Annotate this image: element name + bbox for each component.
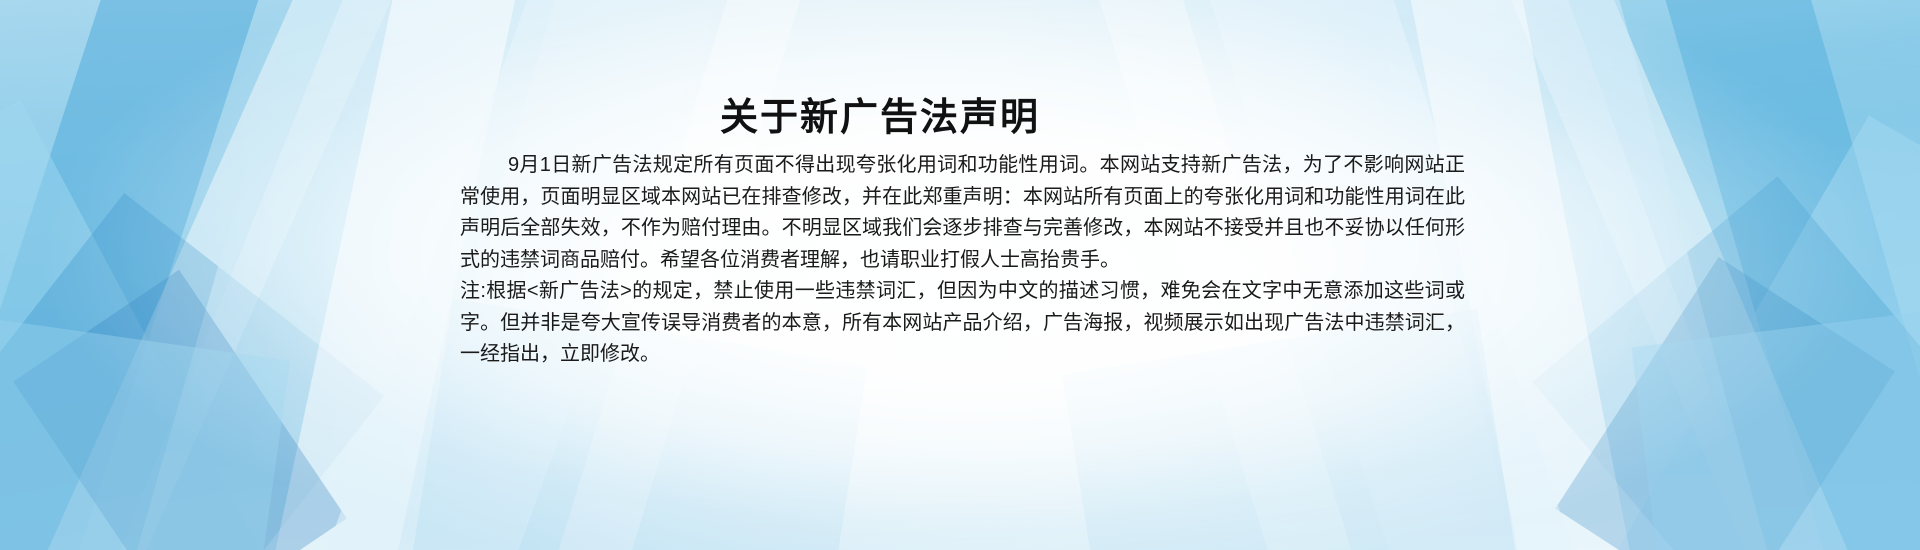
advertising-law-statement-banner: 关于新广告法声明 9月1日新广告法规定所有页面不得出现夸张化用词和功能性用词。本… bbox=[0, 0, 1920, 550]
page-title: 关于新广告法声明 bbox=[0, 86, 1760, 141]
statement-body: 9月1日新广告法规定所有页面不得出现夸张化用词和功能性用词。本网站支持新广告法，… bbox=[460, 150, 1465, 371]
statement-paragraph-1: 9月1日新广告法规定所有页面不得出现夸张化用词和功能性用词。本网站支持新广告法，… bbox=[460, 150, 1465, 276]
statement-content: 关于新广告法声明 9月1日新广告法规定所有页面不得出现夸张化用词和功能性用词。本… bbox=[0, 0, 1920, 550]
statement-paragraph-2: 注:根据<新广告法>的规定，禁止使用一些违禁词汇，但因为中文的描述习惯，难免会在… bbox=[460, 276, 1465, 371]
